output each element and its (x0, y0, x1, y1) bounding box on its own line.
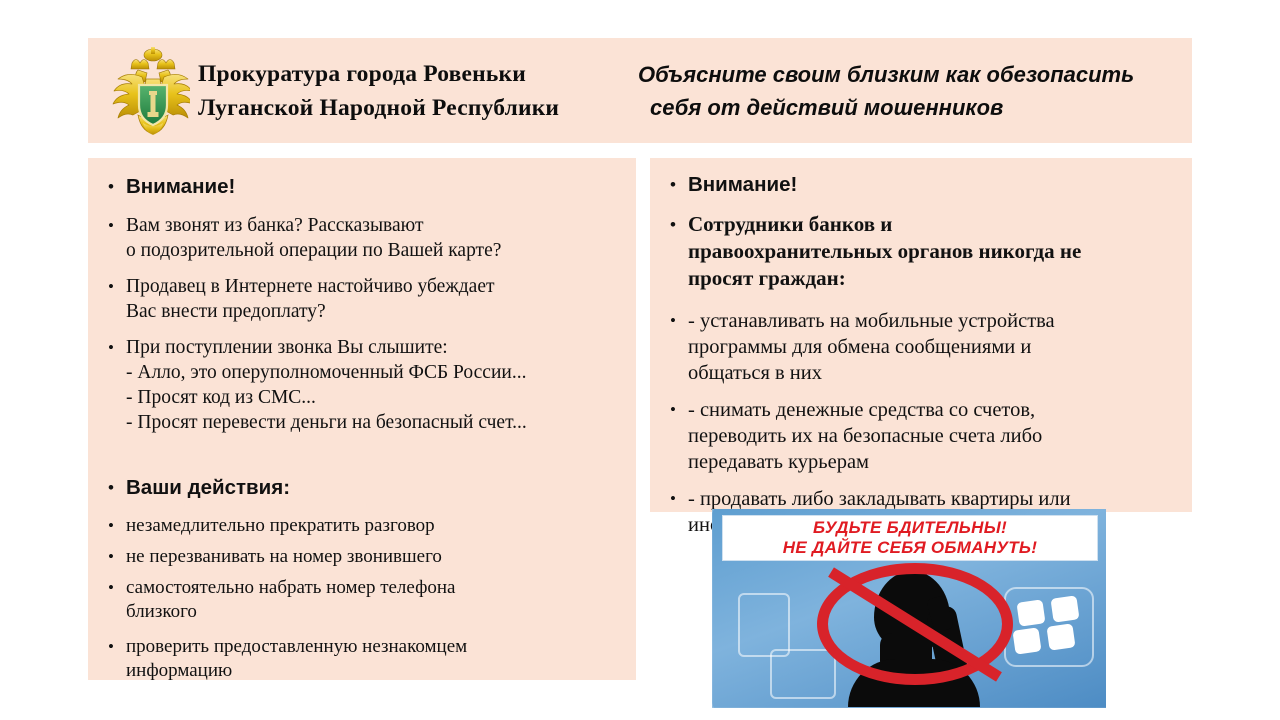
never-ask-1-line-1: - устанавливать на мобильные устройства (688, 308, 1182, 334)
list-item: самостоятельно набрать номер телефона бл… (92, 576, 628, 624)
action-4-line-1: проверить предоставленную незнакомцем (126, 635, 628, 659)
slogan-line-1: Объясните своим близким как обезопасить (638, 58, 1192, 91)
org-title-line-1: Прокуратура города Ровеньки (198, 57, 628, 91)
action-3-line-2: близкого (126, 600, 628, 624)
list-item: - снимать денежные средства со счетов, п… (654, 397, 1182, 475)
right-headline: Сотрудники банков и правоохранительных о… (654, 211, 1182, 292)
poster-decor-rect-left (738, 593, 790, 657)
never-ask-2-line-3: передавать курьерам (688, 449, 1182, 475)
action-4-line-2: информацию (126, 659, 628, 683)
headline-line-1: Сотрудники банков и (688, 211, 1182, 238)
incoming-call-line: При поступлении звонка Вы слышите: (126, 335, 628, 360)
be-vigilant-poster: БУДЬТЕ БДИТЕЛЬНЫ! НЕ ДАЙТЕ СЕБЯ ОБМАНУТЬ… (712, 509, 1106, 708)
list-item: проверить предоставленную незнакомцем ин… (92, 635, 628, 683)
never-ask-1-line-3: общаться в них (688, 360, 1182, 386)
seller-line-1: Продавец в Интернете настойчиво убеждает (126, 274, 628, 299)
header-slogan: Объясните своим близким как обезопасить … (628, 58, 1192, 124)
never-ask-2-line-1: - снимать денежные средства со счетов, (688, 397, 1182, 423)
list-item: Вам звонят из банка? Рассказывают о подо… (92, 213, 628, 263)
right-content-panel: Внимание! Сотрудники банков и правоохран… (650, 158, 1192, 512)
poster-decor-square-d (1046, 623, 1075, 650)
list-item: - устанавливать на мобильные устройства … (654, 308, 1182, 386)
poster-banner-line-2: НЕ ДАЙТЕ СЕБЯ ОБМАНУТЬ! (783, 538, 1037, 558)
bank-call-line-2: о подозрительной операции по Вашей карте… (126, 238, 628, 263)
organization-title: Прокуратура города Ровеньки Луганской На… (198, 57, 628, 125)
incoming-call-sub-1: - Алло, это оперуполномоченный ФСБ Росси… (126, 360, 628, 385)
poster-decor-square-b (1050, 595, 1079, 622)
your-actions-label: Ваши действия: (126, 473, 628, 503)
right-attention-label: Внимание! (688, 170, 1182, 200)
your-actions-heading: Ваши действия: (92, 473, 628, 503)
list-item: незамедлительно прекратить разговор (92, 514, 628, 538)
poster-banner: БУДЬТЕ БДИТЕЛЬНЫ! НЕ ДАЙТЕ СЕБЯ ОБМАНУТЬ… (722, 515, 1098, 561)
headline-line-2: правоохранительных органов никогда не (688, 238, 1182, 265)
org-title-line-2: Луганской Народной Республики (198, 91, 628, 125)
headline-line-3: просят граждан: (688, 265, 1182, 292)
action-1-line-1: незамедлительно прекратить разговор (126, 514, 628, 538)
left-attention-label: Внимание! (126, 172, 628, 202)
header-band: Прокуратура города Ровеньки Луганской На… (88, 38, 1192, 143)
never-ask-2-line-2: переводить их на безопасные счета либо (688, 423, 1182, 449)
left-content-panel: Внимание! Вам звонят из банка? Рассказыв… (88, 158, 636, 680)
incoming-call-sub-2: - Просят код из СМС... (126, 385, 628, 410)
prosecutors-office-emblem (100, 41, 192, 141)
list-item: не перезванивать на номер звонившего (92, 545, 628, 569)
right-attention-heading: Внимание! (654, 170, 1182, 200)
seller-line-2: Вас внести предоплату? (126, 299, 628, 324)
list-item: При поступлении звонка Вы слышите: - Алл… (92, 335, 628, 435)
left-attention-heading: Внимание! (92, 172, 628, 202)
slogan-line-2: себя от действий мошенников (638, 91, 1192, 124)
poster-decor-rect-lower-left (770, 649, 836, 699)
bank-call-line-1: Вам звонят из банка? Рассказывают (126, 213, 628, 238)
list-item: Продавец в Интернете настойчиво убеждает… (92, 274, 628, 324)
incoming-call-sub-3: - Просят перевести деньги на безопасный … (126, 410, 628, 435)
poster-decor-square-a (1016, 599, 1045, 626)
never-ask-1-line-2: программы для обмена сообщениями и (688, 334, 1182, 360)
action-3-line-1: самостоятельно набрать номер телефона (126, 576, 628, 600)
poster-decor-square-c (1012, 627, 1041, 654)
poster-banner-line-1: БУДЬТЕ БДИТЕЛЬНЫ! (813, 518, 1007, 538)
action-2-line-1: не перезванивать на номер звонившего (126, 545, 628, 569)
